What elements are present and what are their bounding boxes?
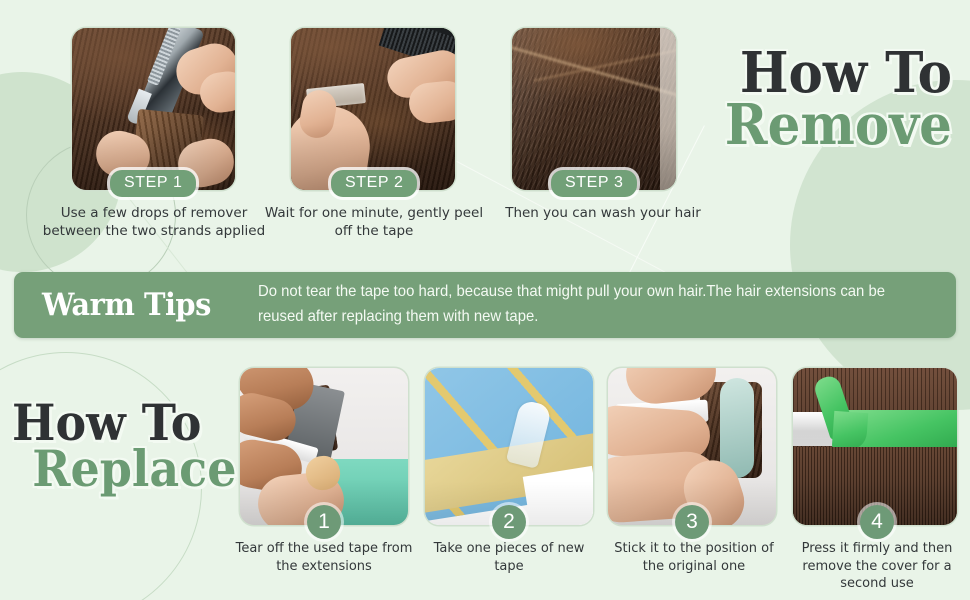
how-to-remove-heading: How To Remove <box>716 48 952 151</box>
remove-step-1-image <box>72 28 235 190</box>
replace-step-1-caption: Tear off the used tape from the extensio… <box>230 540 418 575</box>
replace-step-2-caption: Take one pieces of new tape <box>424 540 594 575</box>
warm-tips-title: Warm Tips <box>42 287 211 323</box>
how-to-replace-heading: How To Replace <box>12 400 236 492</box>
remove-step-3-image <box>512 28 676 190</box>
remove-step-2-badge: STEP 2 <box>331 170 417 197</box>
replace-step-2-badge: 2 <box>492 505 526 539</box>
replace-step-2-image <box>425 368 593 525</box>
remove-step-2-image <box>291 28 455 190</box>
replace-step-4-badge: 4 <box>860 505 894 539</box>
remove-step-3-caption: Then you can wash your hair <box>487 205 719 223</box>
warm-tips-banner: Warm Tips Do not tear the tape too hard,… <box>14 272 956 338</box>
remove-step-3-badge: STEP 3 <box>551 170 637 197</box>
infographic-page: How To Remove STEP 1 Use a few drops of … <box>0 0 970 600</box>
how-to-remove-heading-line2: Remove <box>716 100 952 152</box>
replace-step-4-image <box>793 368 957 525</box>
replace-step-3-caption: Stick it to the position of the original… <box>604 540 784 575</box>
remove-step-1-caption: Use a few drops of remover between the t… <box>36 205 272 241</box>
replace-step-1-badge: 1 <box>307 505 341 539</box>
replace-step-4-caption: Press it firmly and then remove the cove… <box>788 540 966 593</box>
replace-step-3-badge: 3 <box>675 505 709 539</box>
remove-step-2-caption: Wait for one minute, gently peel off the… <box>262 205 486 241</box>
remove-step-1-badge: STEP 1 <box>110 170 196 197</box>
replace-step-3-image <box>608 368 776 525</box>
how-to-replace-heading-line2: Replace <box>12 446 236 492</box>
replace-step-1-image <box>240 368 408 525</box>
warm-tips-text: Do not tear the tape too hard, because t… <box>258 280 893 330</box>
